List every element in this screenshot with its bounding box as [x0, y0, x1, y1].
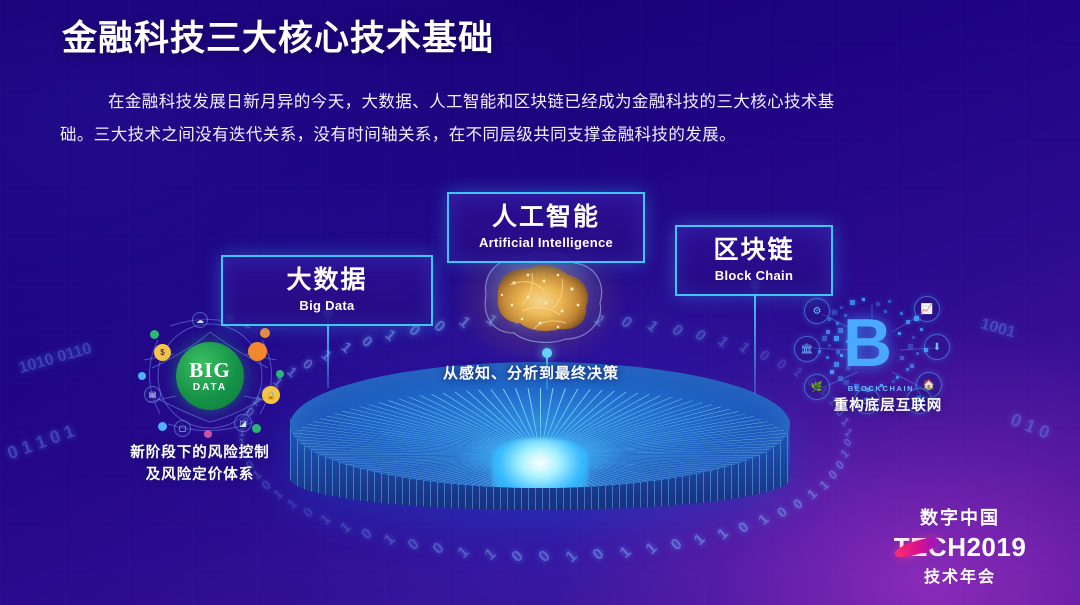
- pillar-label-en: Artificial Intelligence: [467, 235, 625, 250]
- event-logo: 数字中国 TECH2019 技术年会: [874, 507, 1046, 587]
- caption-line-1: 新阶段下的风险控制: [100, 442, 300, 464]
- blockchain-letter-b: B: [843, 306, 909, 386]
- caption-line-2: 及风险定价体系: [100, 464, 300, 486]
- body-paragraph: 在金融科技发展日新月异的今天，大数据、人工智能和区块链已经成为金融科技的三大核心…: [60, 86, 1024, 152]
- pillar-label-big-data[interactable]: 大数据 Big Data: [221, 255, 433, 326]
- node-dot: [204, 430, 212, 438]
- big-data-network-icon: $ ▤ 🔒 ▢ ◪ ☁ BIG DATA: [130, 310, 290, 440]
- big-data-core-top: BIG: [189, 360, 231, 381]
- analytics-icon: ◪: [234, 414, 252, 432]
- node-dot: [158, 422, 167, 431]
- pillar-label-en: Big Data: [241, 298, 413, 313]
- node-dot: [276, 370, 284, 378]
- blockchain-word: BLOCKCHAIN: [838, 384, 924, 393]
- page-title: 金融科技三大核心技术基础: [62, 18, 1022, 60]
- logo-line-top: 数字中国: [874, 507, 1046, 530]
- download-shield-icon: ⬇: [924, 334, 950, 360]
- settings-gear-icon: ⚙: [804, 298, 830, 324]
- node-dot: [138, 372, 146, 380]
- node-dot: [260, 328, 270, 338]
- big-data-core-bottom: DATA: [193, 383, 227, 393]
- pillar-caption-big-data: 新阶段下的风险控制 及风险定价体系: [100, 442, 300, 487]
- cloud-icon: ☁: [192, 312, 208, 328]
- pillar-label-cn: 区块链: [695, 236, 813, 266]
- binary-decoration-left: 1010 0110: [17, 340, 94, 378]
- pillar-label-cn: 大数据: [241, 266, 413, 296]
- lock-icon: 🔒: [262, 386, 280, 404]
- data-platform-disc: [290, 362, 790, 537]
- bank-icon: 🏛: [794, 336, 820, 362]
- node-dot: [150, 330, 159, 339]
- connector-pin-block-chain: [754, 288, 756, 394]
- logo-line-bottom: 技术年会: [874, 563, 1046, 587]
- image-icon: ▤: [144, 386, 161, 403]
- body-line-1: 在金融科技发展日新月异的今天，大数据、人工智能和区块链已经成为金融科技的三大核心…: [108, 93, 835, 111]
- pillar-label-block-chain[interactable]: 区块链 Block Chain: [675, 225, 833, 296]
- logo-tech-wordmark: TECH2019: [874, 532, 1046, 562]
- pillar-label-cn: 人工智能: [467, 203, 625, 233]
- big-data-core-badge: BIG DATA: [176, 342, 244, 410]
- document-icon: ▢: [174, 420, 191, 437]
- binary-decoration-right-2: 0 1 0: [1008, 409, 1053, 443]
- slide-header: 金融科技三大核心技术基础: [62, 18, 1022, 60]
- binary-decoration-right: 1001: [978, 315, 1017, 342]
- disc-core: [492, 438, 588, 488]
- pillar-label-en: Block Chain: [695, 268, 813, 283]
- body-line-2: 础。三大技术之间没有迭代关系，没有时间轴关系，在不同层级共同支撑金融科技的发展。: [60, 119, 1024, 152]
- chart-icon: [248, 342, 267, 361]
- slide-root: 金融科技三大核心技术基础 在金融科技发展日新月异的今天，大数据、人工智能和区块链…: [0, 0, 1080, 605]
- pillar-label-artificial-intelligence[interactable]: 人工智能 Artificial Intelligence: [447, 192, 645, 263]
- binary-decoration-left-2: 0 1 1 0 1: [5, 421, 78, 465]
- connector-pin-big-data: [327, 316, 329, 388]
- node-dot: [252, 424, 261, 433]
- pillar-caption-artificial-intelligence: 从感知、分析到最终决策: [420, 362, 642, 383]
- badge-icon: $: [154, 344, 171, 361]
- pillar-caption-block-chain: 重构底层互联网: [795, 394, 981, 415]
